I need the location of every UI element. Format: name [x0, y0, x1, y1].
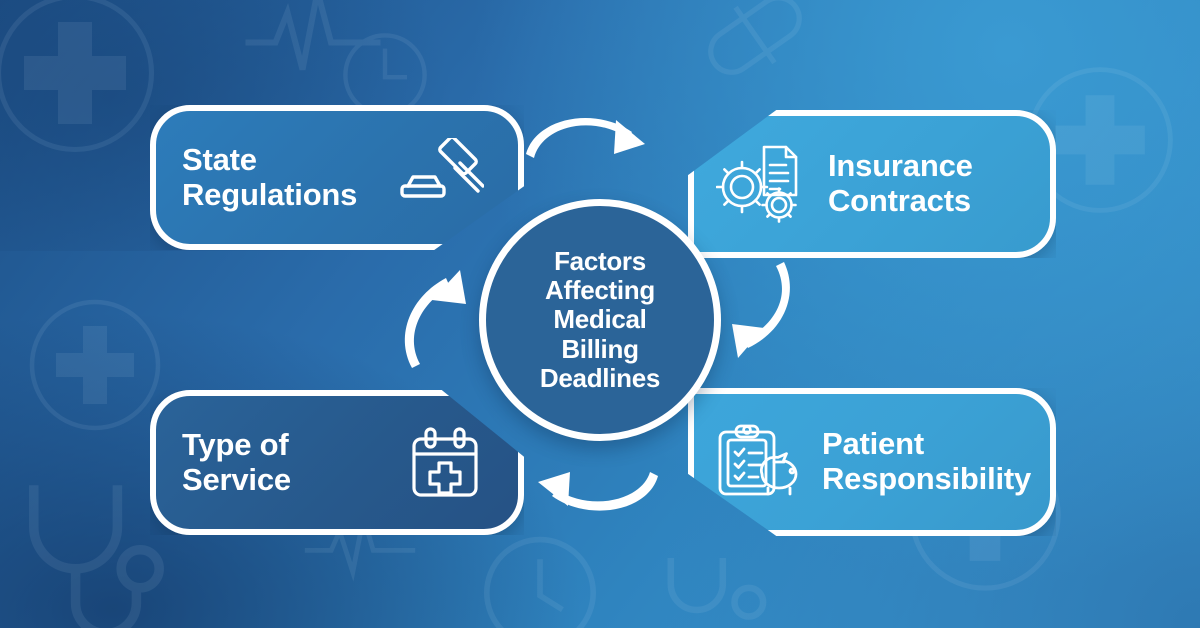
clipboard-piggybank-icon: [716, 422, 802, 502]
node-label-type-of-service: Type of Service: [182, 428, 291, 497]
gavel-icon: [400, 138, 484, 218]
medical-cross-icon: [20, 290, 170, 440]
gears-document-icon: [716, 143, 808, 225]
medical-cross-icon: [0, 0, 160, 158]
medical-calendar-icon: [408, 425, 482, 501]
node-label-state-regulations: State Regulations: [182, 143, 357, 212]
node-card-type-of-service[interactable]: Type of Service: [150, 390, 524, 535]
node-label-patient-responsibility: Patient Responsibility: [822, 427, 1031, 496]
clock-icon: [470, 520, 610, 628]
stethoscope-icon: [640, 545, 790, 628]
hub-circle: Factors Affecting Medical Billing Deadli…: [479, 199, 721, 441]
pill-icon: [690, 0, 820, 100]
hub-title: Factors Affecting Medical Billing Deadli…: [540, 247, 660, 394]
infographic-canvas: State Regulations: [0, 0, 1200, 628]
node-label-insurance-contracts: Insurance Contracts: [828, 149, 973, 218]
